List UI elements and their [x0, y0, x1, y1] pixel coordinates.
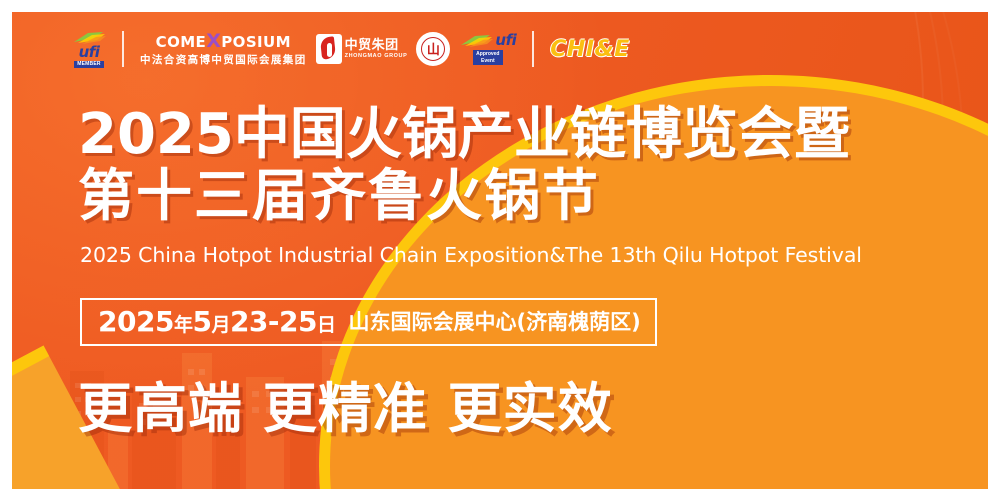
logo-zhongmao-group: 中贸朱团 ZHONGMAO GROUP: [316, 34, 408, 64]
headline-line-1: 2025中国火锅产业链博览会暨: [78, 104, 918, 166]
zhongmao-mark-icon: [316, 34, 342, 64]
logo-divider: [532, 31, 534, 67]
zhongmao-english-name: ZHONGMAO GROUP: [345, 54, 408, 60]
logo-comexposium: COMEXPOSIUM 中法合资高博中贸国际会展集团: [140, 32, 307, 66]
event-date: 2025年5月23-25日: [98, 308, 336, 336]
event-slogan: 更高端 更精准 更实效: [78, 378, 613, 440]
zhongmao-chinese-name: 中贸朱团: [345, 38, 408, 51]
ufi-wing-icon: [459, 34, 493, 47]
logo-shandong-seal: 山: [416, 32, 450, 66]
poster-headline: 2025中国火锅产业链博览会暨 第十三届齐鲁火锅节: [78, 104, 918, 228]
logo-ufi-approved-event: ufi ApprovedEvent: [459, 33, 516, 65]
ufi-member-badge: MEMBER: [74, 61, 103, 68]
comexposium-chinese-name: 中法合资高博中贸国际会展集团: [140, 55, 307, 66]
ufi-wordmark: ufi: [495, 33, 516, 48]
event-venue: 山东国际会展中心(济南槐荫区): [349, 312, 641, 333]
ufi-approved-badge: ApprovedEvent: [473, 50, 502, 65]
ufi-wordmark: ufi: [79, 45, 100, 60]
logo-ufi-member: ufi MEMBER: [72, 31, 106, 68]
comexposium-wordmark: COMEXPOSIUM: [156, 32, 291, 51]
date-venue-box: 2025年5月23-25日 山东国际会展中心(济南槐荫区): [80, 298, 657, 346]
headline-english-subtitle: 2025 China Hotpot Industrial Chain Expos…: [80, 243, 862, 267]
headline-line-2: 第十三届齐鲁火锅节: [78, 166, 918, 228]
ufi-wing-icon: [72, 31, 106, 44]
logo-chice: CHI&E: [550, 37, 629, 62]
shandong-seal-character: 山: [427, 43, 440, 56]
exhibition-poster: ufi MEMBER COMEXPOSIUM 中法合资高博中贸国际会展集团 中贸…: [0, 0, 1000, 501]
logo-divider: [122, 31, 124, 67]
sponsor-logo-strip: ufi MEMBER COMEXPOSIUM 中法合资高博中贸国际会展集团 中贸…: [72, 24, 630, 74]
